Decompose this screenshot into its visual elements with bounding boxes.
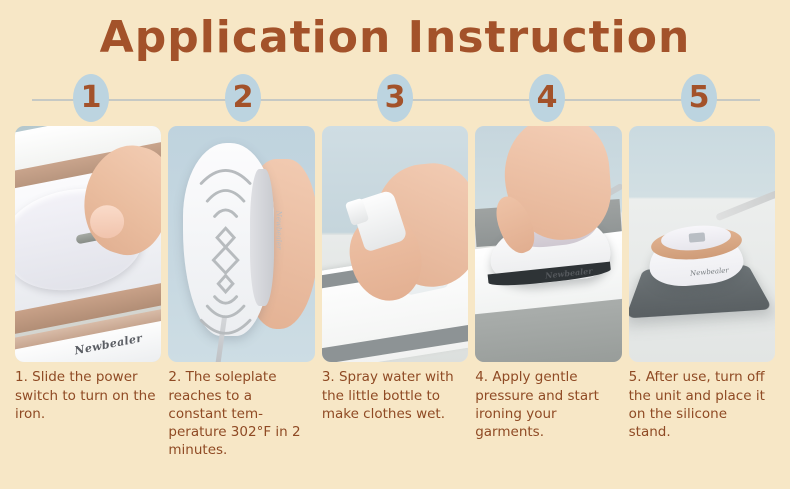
soleplate-pattern: [168, 126, 314, 362]
step-badge-2: 2: [225, 74, 261, 122]
step-number-cell-3: 3: [319, 74, 471, 122]
step-caption-5: 5. After use, turn off the unit and plac…: [629, 368, 775, 459]
step-number-strip: 1 2 3 4 5: [0, 74, 790, 126]
step-image-row: Newbealer: [0, 126, 790, 362]
fingernail: [90, 205, 125, 239]
photo-background-1: Newbealer: [15, 126, 161, 362]
step-badge-4: 4: [529, 74, 565, 122]
photo-background-2: Newbealer: [168, 126, 314, 362]
step-photo-4: Newbealer: [475, 126, 621, 362]
step-number-cell-4: 4: [471, 74, 623, 122]
step-caption-4: 4. Apply gentle pressure and start ironi…: [475, 368, 621, 459]
photo-background-3: [322, 126, 468, 362]
step-number-cell-2: 2: [167, 74, 319, 122]
photo-background-4: Newbealer: [475, 126, 621, 362]
step-badge-3: 3: [377, 74, 413, 122]
step-photo-5: Newbealer: [629, 126, 775, 362]
step-photo-2: Newbealer: [168, 126, 314, 362]
photo-background-5: Newbealer: [629, 126, 775, 362]
step-badge-5: 5: [681, 74, 717, 122]
step-badge-1: 1: [73, 74, 109, 122]
step-caption-2: 2. The soleplate reaches to a constant t…: [168, 368, 314, 459]
step-caption-1: 1. Slide the power switch to turn on the…: [15, 368, 161, 459]
step-caption-3: 3. Spray water with the little bottle to…: [322, 368, 468, 459]
step-photo-3: [322, 126, 468, 362]
iron-logo-plate: [688, 232, 705, 243]
step-photo-1: Newbealer: [15, 126, 161, 362]
step-number-cell-1: 1: [15, 74, 167, 122]
power-cord: [715, 190, 775, 222]
caption-row: 1. Slide the power switch to turn on the…: [0, 362, 790, 459]
brand-label-2: Newbealer: [275, 210, 283, 249]
page-title: Application Instruction: [0, 0, 790, 62]
step-number-cell-5: 5: [623, 74, 775, 122]
